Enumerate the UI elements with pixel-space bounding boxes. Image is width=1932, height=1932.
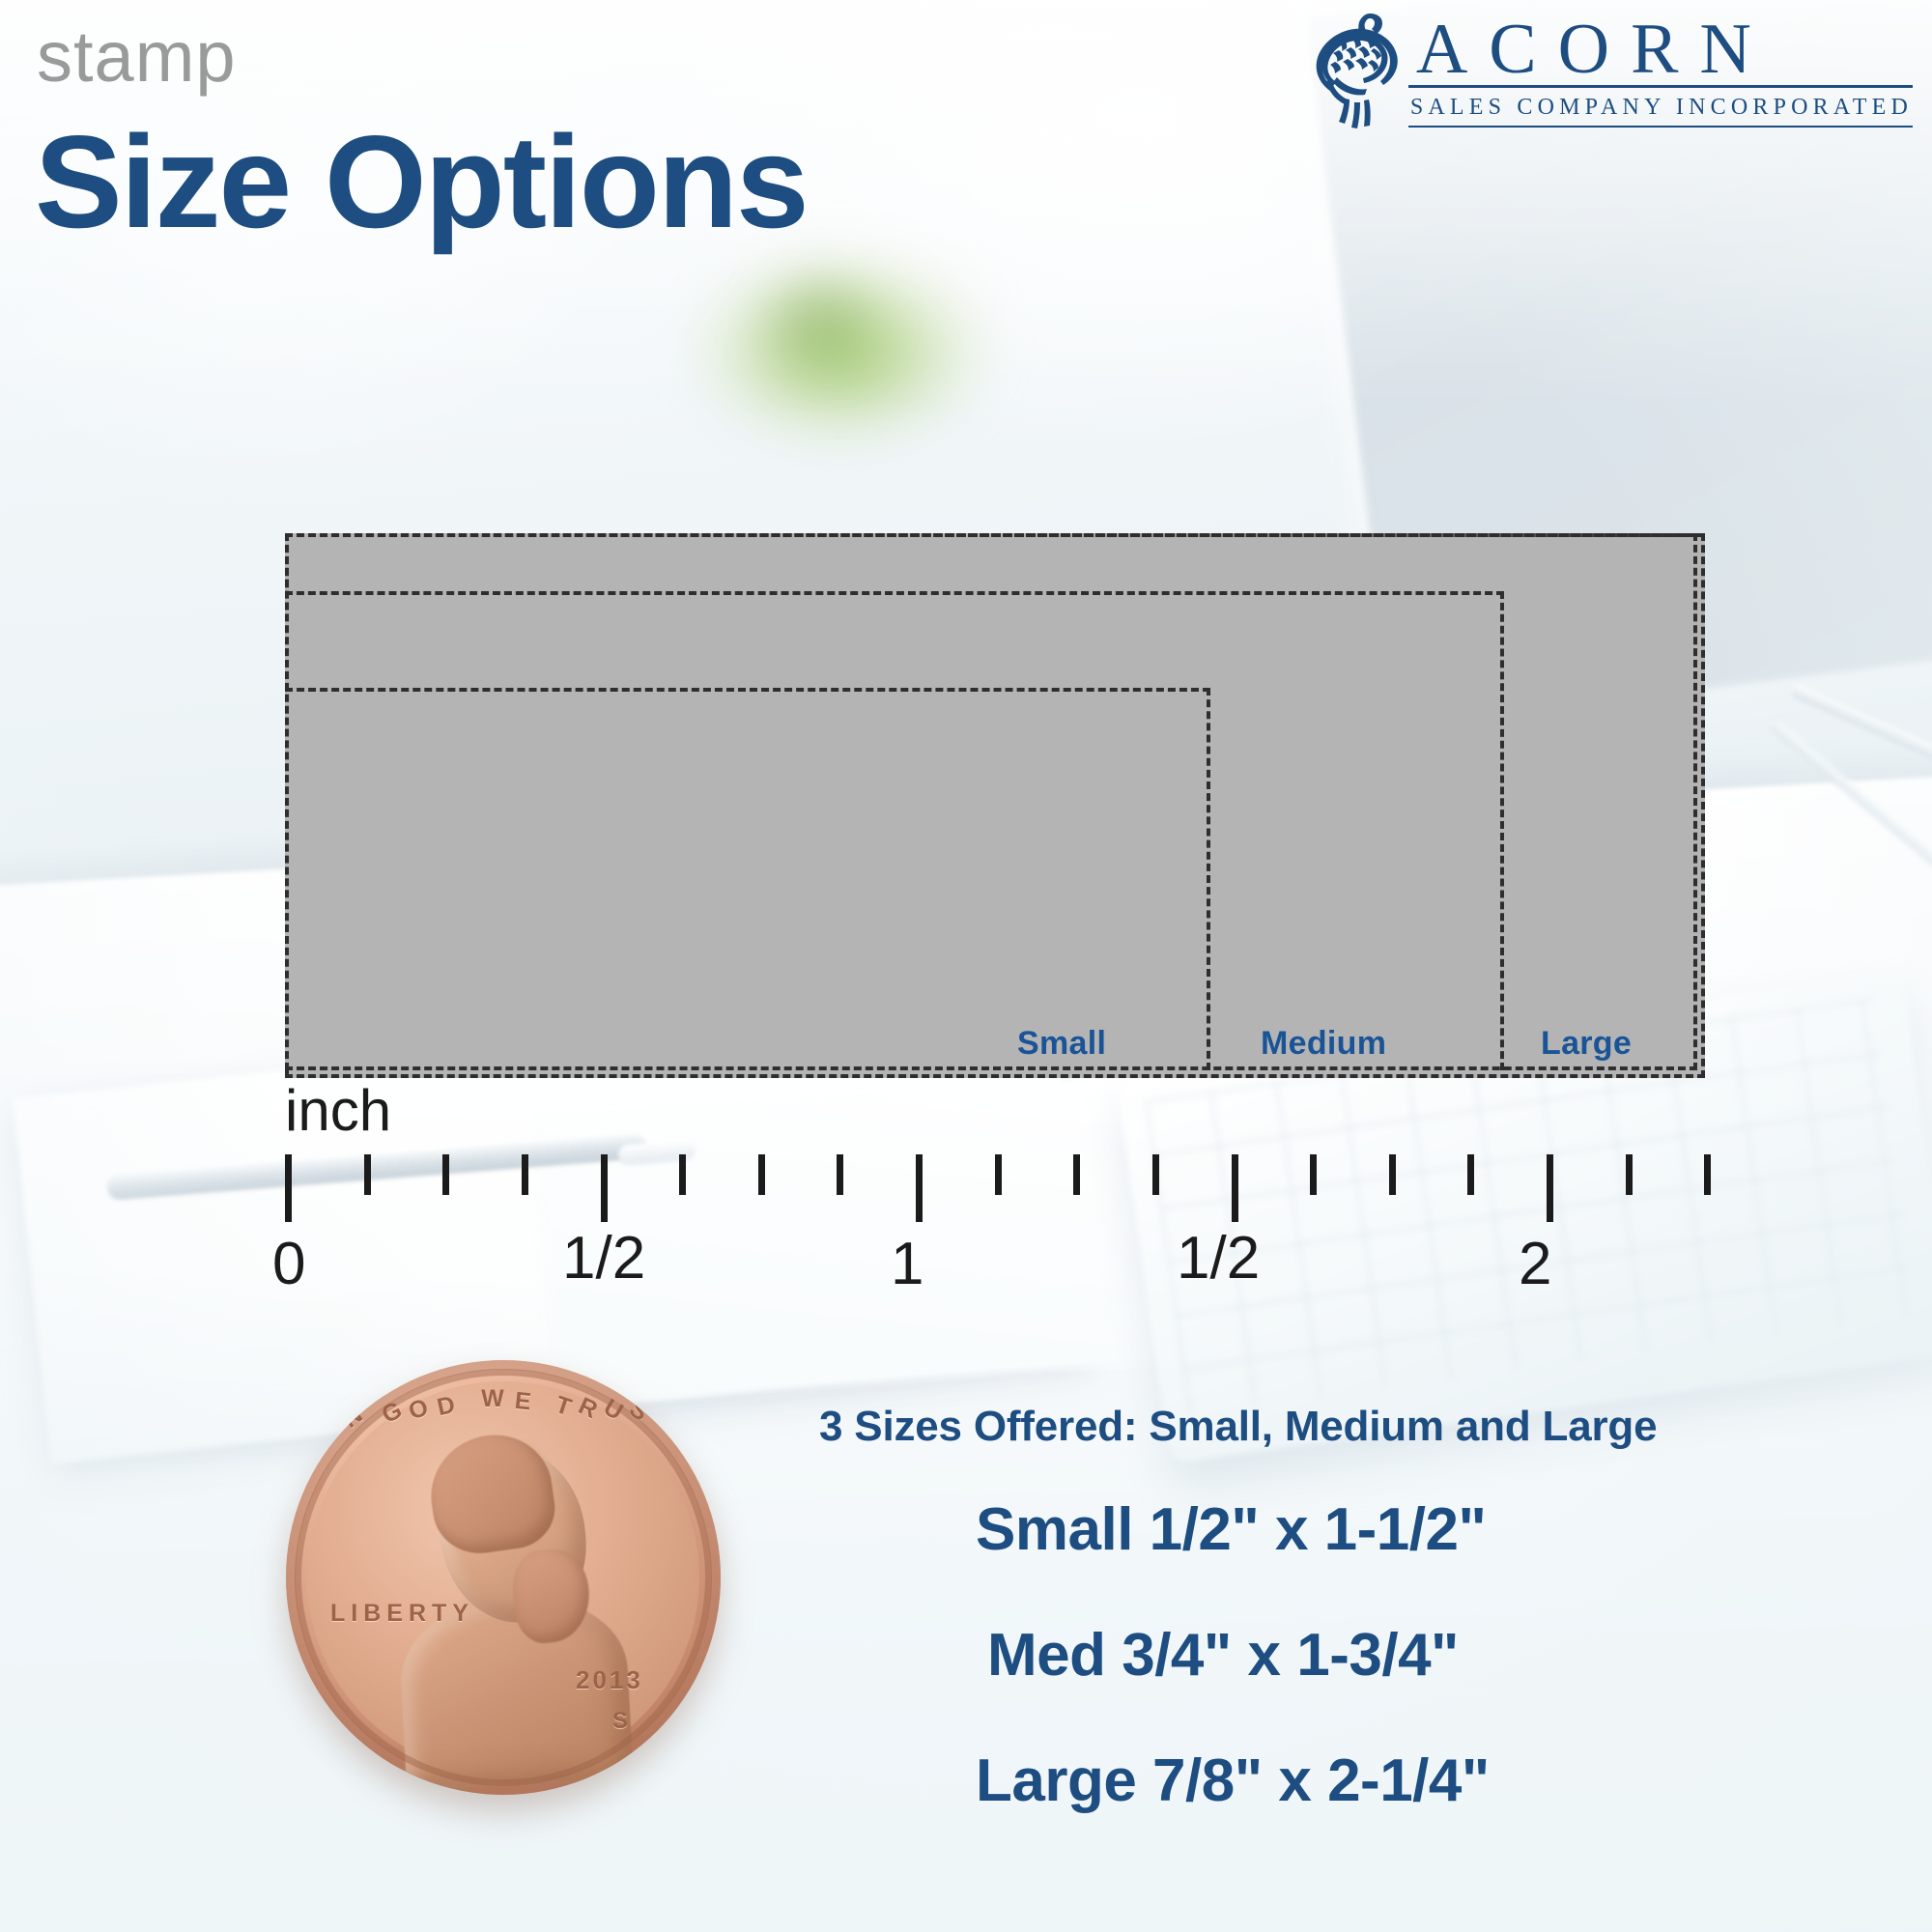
ruler-tick-minor — [995, 1154, 1002, 1195]
size-box-label-large: Large — [1541, 1025, 1632, 1063]
logo-tagline: SALES COMPANY INCORPORATED — [1408, 92, 1913, 124]
small-box-right-edge — [1207, 688, 1210, 1070]
sizes-offered-heading: 3 Sizes Offered: Small, Medium and Large — [819, 1403, 1657, 1451]
ruler-tick-minor — [364, 1154, 371, 1195]
ruler-label-half: 1/2 — [562, 1229, 645, 1289]
ruler-tick-major — [601, 1154, 608, 1222]
penny-coin: IN GOD WE TRUST LIBERTY 2013 S — [286, 1360, 721, 1795]
ruler-tick-minor — [1310, 1154, 1317, 1195]
size-line-large: Large 7/8" x 2-1/4" — [976, 1747, 1490, 1815]
large-box-top-edge — [285, 533, 1697, 537]
size-box-label-small: Small — [1017, 1025, 1106, 1063]
size-line-small: Small 1/2" x 1-1/2" — [976, 1495, 1486, 1564]
large-box-left-edge — [285, 533, 289, 1070]
ruler-tick-minor — [1626, 1154, 1633, 1195]
logo-rule-bottom — [1408, 126, 1913, 128]
brand-logo: ACORN SALES COMPANY INCORPORATED — [1310, 10, 1913, 133]
size-box-label-medium: Medium — [1261, 1025, 1386, 1063]
logo-wordmark: ACORN — [1408, 15, 1913, 83]
ruler-tick-minor — [679, 1154, 686, 1195]
ruler-label-0: 0 — [272, 1235, 305, 1294]
ruler-tick-major — [1547, 1154, 1553, 1222]
large-box-bottom-edge — [285, 1066, 1697, 1070]
eyebrow-label: stamp — [37, 21, 237, 93]
medium-box-right-edge — [1500, 591, 1504, 1070]
ruler-tick-major — [916, 1154, 923, 1222]
ruler-tick-minor — [522, 1154, 528, 1195]
coin-rim — [295, 1369, 712, 1786]
logo-text: ACORN SALES COMPANY INCORPORATED — [1408, 10, 1913, 131]
ruler-tick-minor — [1152, 1154, 1159, 1195]
size-box-small — [285, 688, 1210, 1070]
ruler-unit-label: inch — [285, 1082, 391, 1140]
large-box-right-edge — [1693, 533, 1697, 1070]
ruler-tick-minor — [442, 1154, 449, 1195]
ruler-tick-minor — [1073, 1154, 1080, 1195]
ruler-tick-minor — [758, 1154, 765, 1195]
ruler-tick-minor — [1704, 1154, 1711, 1195]
ruler-label-one-half: 1/2 — [1177, 1229, 1260, 1289]
size-options-infographic: stamp Size Options ACORN SALES COMPANY I… — [0, 0, 1932, 1932]
medium-box-top-edge — [285, 591, 1504, 595]
ruler-label-two: 2 — [1519, 1235, 1551, 1294]
page-title: Size Options — [35, 116, 808, 247]
ruler-label-one: 1 — [891, 1235, 923, 1294]
small-box-top-edge — [285, 688, 1210, 692]
ruler-tick-minor — [1467, 1154, 1474, 1195]
logo-rule-top — [1408, 85, 1913, 88]
ruler-tick-major — [1232, 1154, 1238, 1222]
ruler-tick-minor — [1389, 1154, 1396, 1195]
size-comparison-boxes: Small Medium Large — [285, 533, 1697, 1070]
size-line-medium: Med 3/4" x 1-3/4" — [987, 1621, 1459, 1690]
inch-ruler — [285, 1154, 1695, 1222]
ruler-tick-minor — [837, 1154, 843, 1195]
ruler-tick-major — [285, 1154, 292, 1222]
acorn-icon — [1310, 10, 1403, 133]
